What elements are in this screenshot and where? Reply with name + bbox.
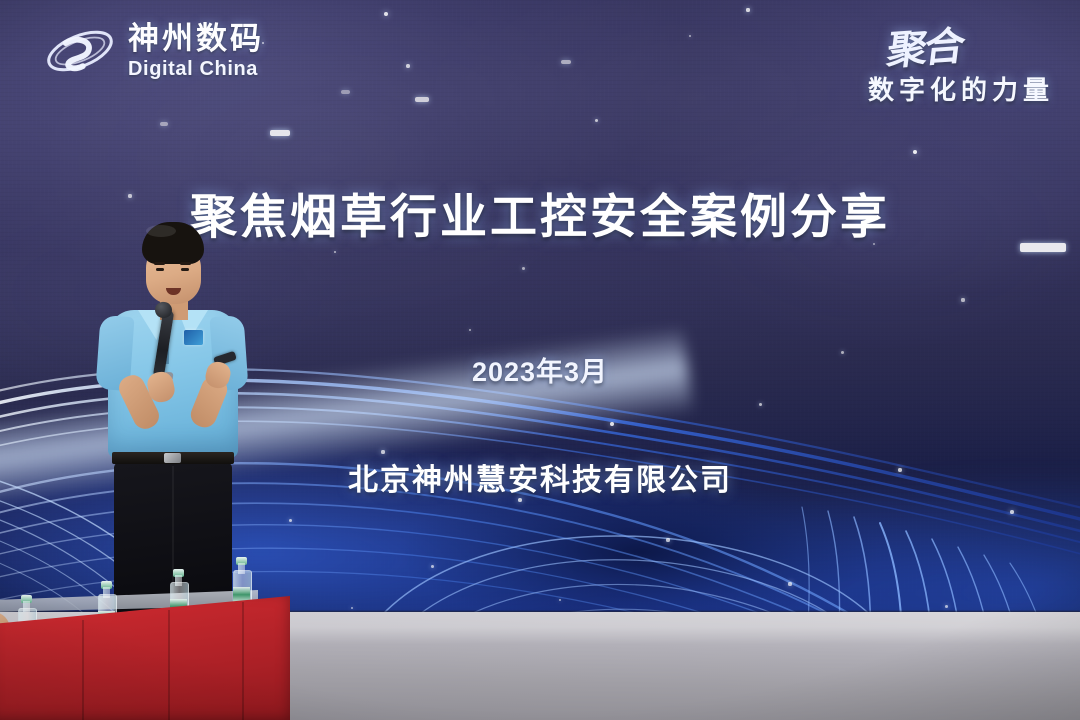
brand-logo: 神州数码 Digital China	[44, 20, 264, 82]
brand-name-en: Digital China	[128, 59, 264, 79]
foreground-table	[0, 564, 290, 720]
shirt-logo-icon	[184, 330, 203, 345]
brand-name-cn: 神州数码	[128, 23, 264, 54]
event-mark: 聚合 数字化的力量	[868, 16, 1054, 107]
swirl-logo-icon	[44, 20, 116, 82]
red-tablecloth	[0, 596, 290, 720]
brand-text: 神州数码 Digital China	[128, 23, 264, 79]
conference-stage-photo: 聚焦烟草行业工控安全案例分享 2023年3月 北京神州慧安科技有限公司 神州数码…	[0, 0, 1080, 720]
event-calligraphy: 聚合	[884, 13, 966, 76]
speaker-hair	[142, 222, 204, 264]
speaker-figure	[96, 222, 248, 622]
